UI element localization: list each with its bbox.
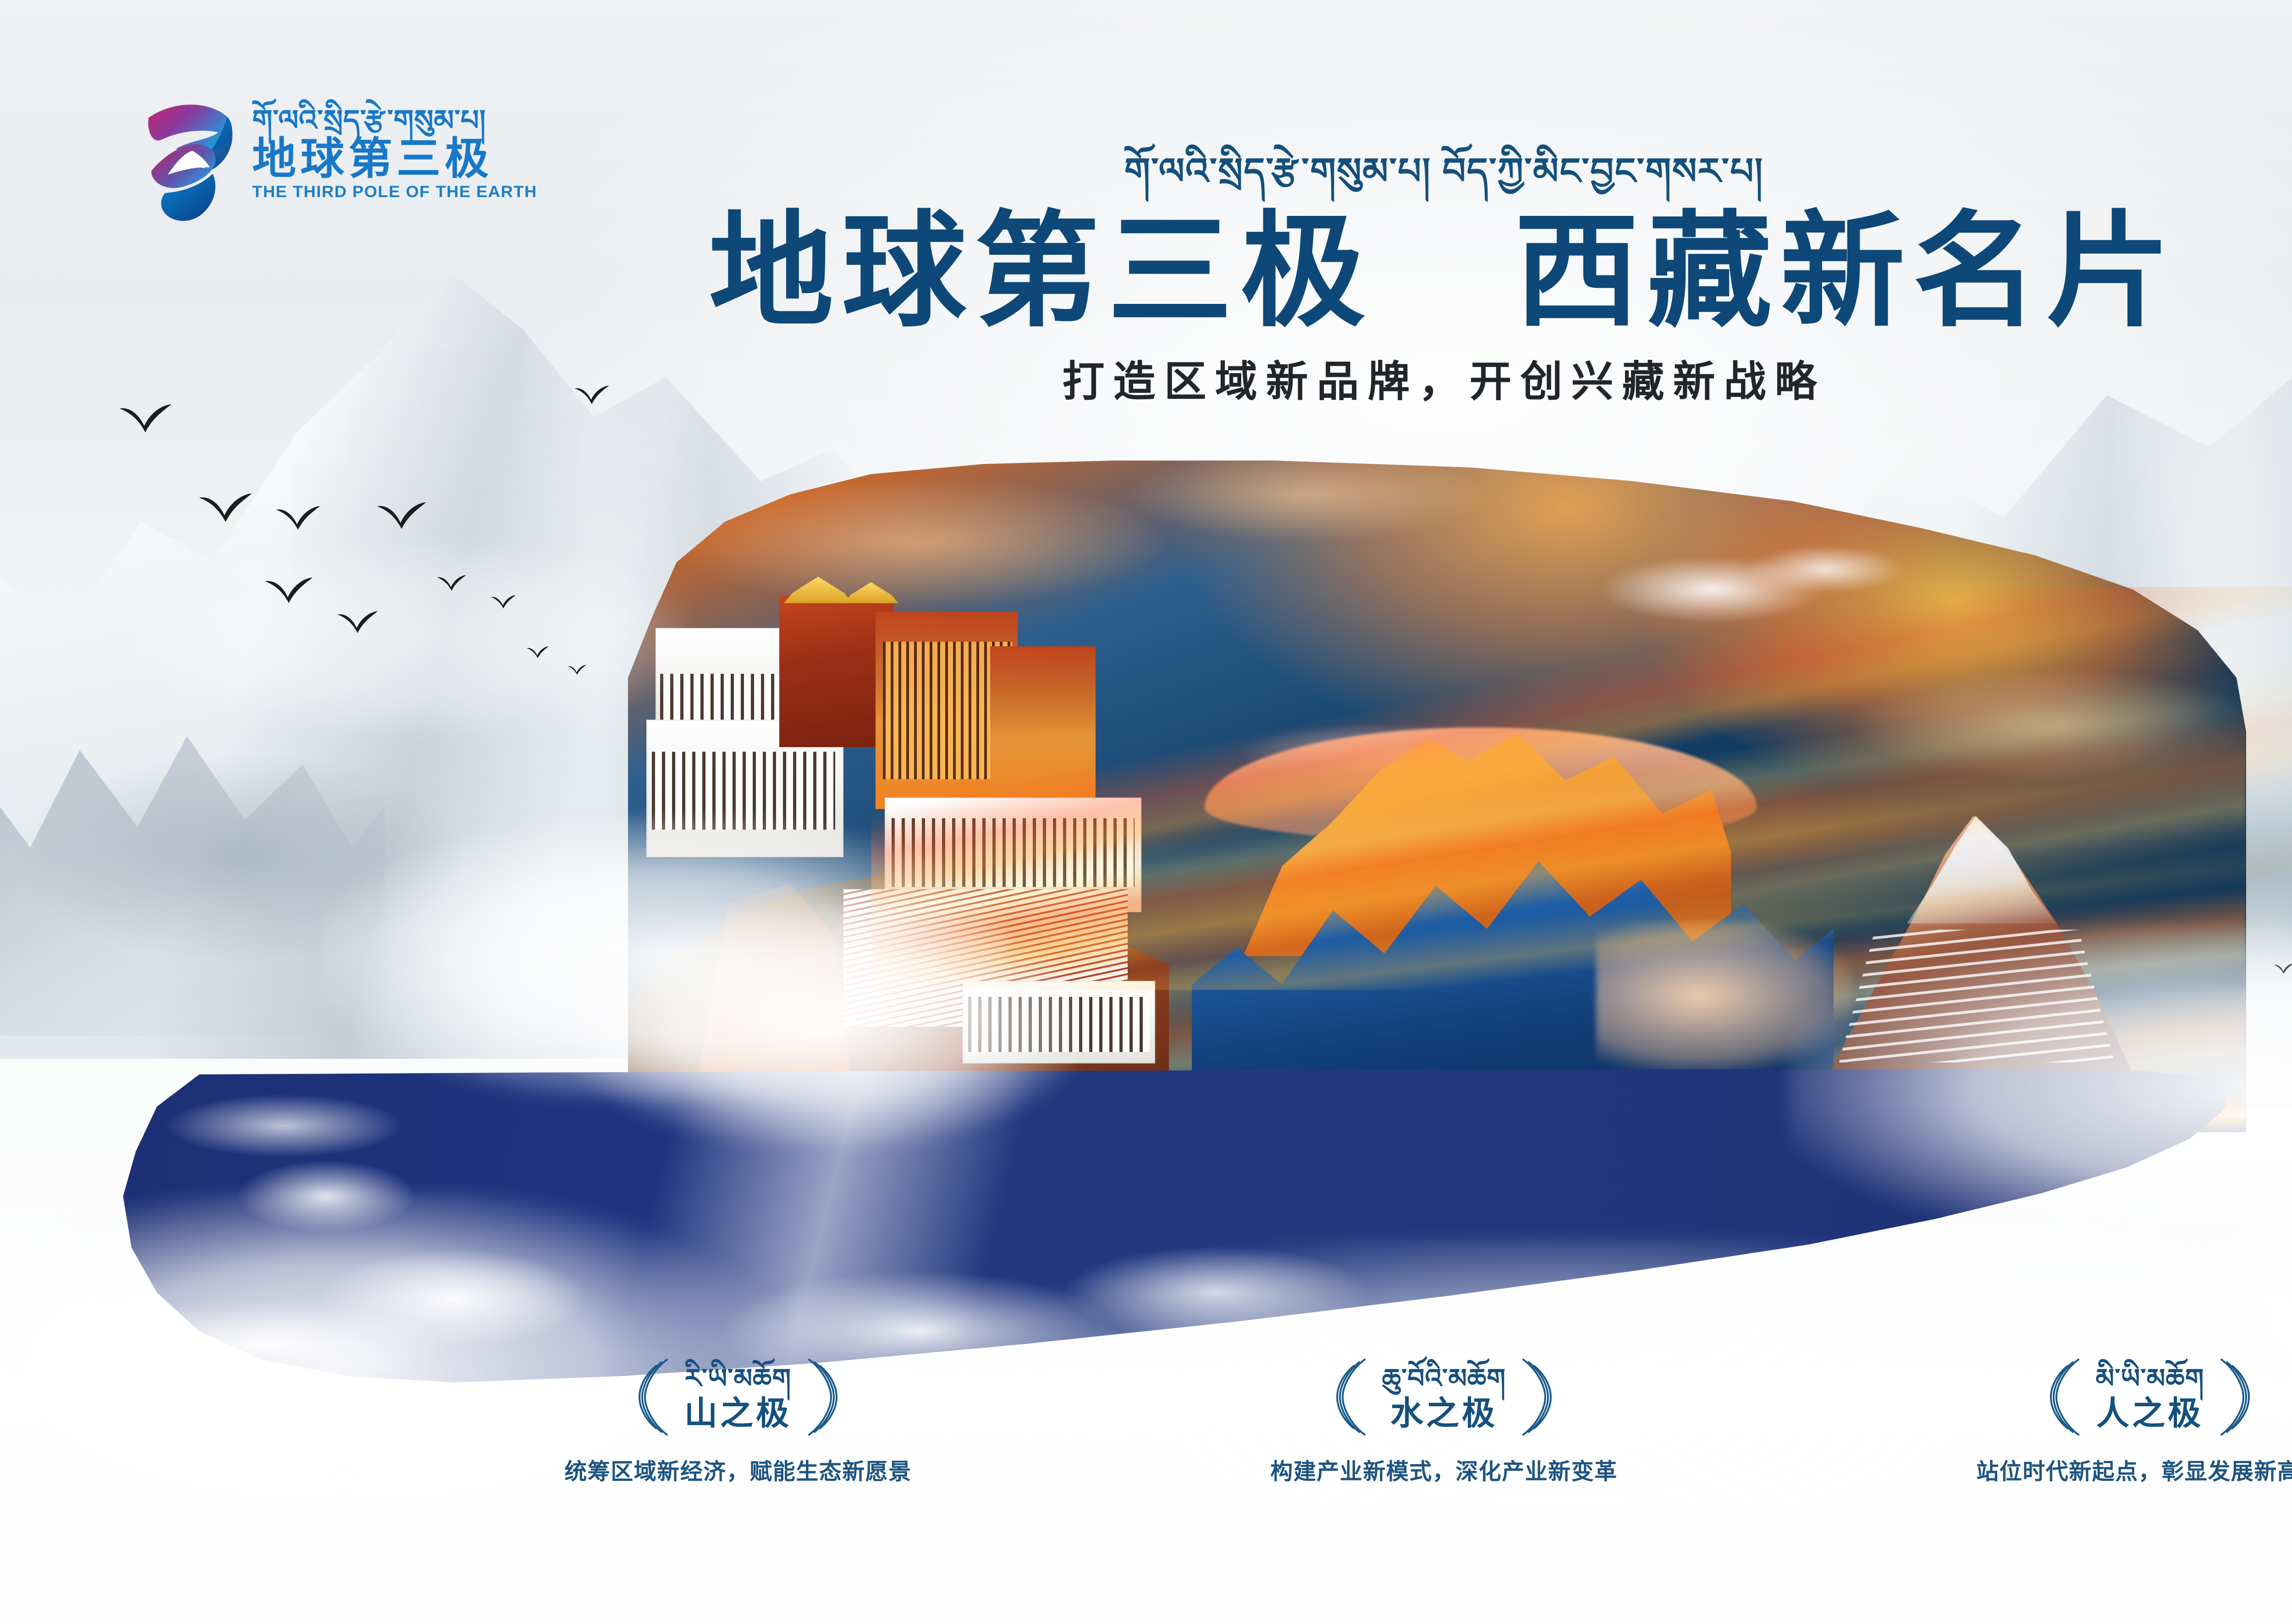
bracket-left-icon bbox=[1334, 1357, 1370, 1440]
bird-icon bbox=[567, 664, 587, 677]
headline-chinese-right: 西藏新名片 bbox=[1515, 202, 2179, 341]
pillar-water-chinese: 水之极 bbox=[1390, 1397, 1498, 1431]
brand-logo-tibetan: གོ་ལའི་སྲིད་རྩེ་གསུམ་པ། bbox=[252, 106, 526, 135]
pillar-water-description: 构建产业新模式，深化产业新变革 bbox=[1270, 1460, 1618, 1485]
bracket-right-icon bbox=[804, 1357, 839, 1440]
bird-icon bbox=[198, 491, 253, 526]
pillar-people-description: 站位时代新起点，彰显发展新高度 bbox=[1976, 1460, 2292, 1485]
kailash-snow-cap bbox=[1883, 816, 2085, 924]
headline-chinese-left: 地球第三极 bbox=[709, 202, 1373, 341]
palace-gold-roof-a bbox=[784, 577, 853, 603]
bracket-right-icon bbox=[2216, 1357, 2252, 1440]
headline-tibetan: གོ་ལའི་སྲིད་རྩེ་གསུམ་པ། བོད་ཀྱི་མིང་བྱང་… bbox=[1124, 151, 1764, 192]
headline-subtitle: 打造区域新品牌，开创兴藏新战略 bbox=[1062, 359, 1825, 405]
bird-icon bbox=[118, 402, 172, 436]
pillars-row: རི་ཡི་མཆོག 山之极 统筹区域新经济，赋能生态新愿景 bbox=[0, 1357, 2292, 1568]
potala-palace-photo bbox=[628, 568, 1169, 1132]
pillar-people[interactable]: མི་ཡི་མཆོག 人之极 站位时代新起点，彰显发展新高度 bbox=[1898, 1357, 2292, 1485]
bracket-left-icon bbox=[637, 1357, 672, 1440]
pillar-mountain-chinese: 山之极 bbox=[684, 1397, 792, 1431]
poster-canvas: གོ་ལའི་སྲིད་རྩེ་གསུམ་པ། 地球第三极 THE THIRD … bbox=[0, 0, 2292, 1624]
bracket-right-icon bbox=[1518, 1357, 1554, 1440]
pillar-mountain[interactable]: རི་ཡི་མཆོག 山之极 统筹区域新经济，赋能生态新愿景 bbox=[486, 1357, 990, 1485]
bird-icon bbox=[264, 576, 314, 607]
palace-lower-village-windows bbox=[968, 997, 1150, 1052]
pillar-mountain-description: 统筹区域新经济，赋能生态新愿景 bbox=[564, 1460, 912, 1485]
snow-peak-photo bbox=[1192, 692, 1834, 1132]
bird-icon bbox=[490, 594, 516, 611]
bird-icon bbox=[2274, 963, 2292, 975]
bird-icon bbox=[275, 504, 321, 534]
pillar-water[interactable]: ཆུ་བོའི་མཆོག 水之极 构建产业新模式，深化产业新变革 bbox=[1192, 1357, 1696, 1485]
pillar-people-chinese: 人之极 bbox=[2096, 1397, 2204, 1431]
bird-icon bbox=[336, 610, 379, 636]
page-title: 地球第三极 西藏新名片 bbox=[709, 208, 2179, 335]
palace-window-rows-right bbox=[892, 818, 1135, 887]
ink-wash-left bbox=[18, 697, 568, 1018]
pillar-mountain-heading: རི་ཡི་མཆོག 山之极 bbox=[637, 1357, 839, 1440]
pillar-mountain-tibetan: རི་ཡི་མཆོག bbox=[685, 1365, 791, 1393]
bird-icon bbox=[526, 645, 549, 660]
snow-mountain-left-rock bbox=[0, 688, 385, 1036]
pillar-people-tibetan: མི་ཡི་མཆོག bbox=[2096, 1365, 2204, 1393]
palace-gold-roof-b bbox=[843, 582, 898, 603]
palace-red-palace-right-glow bbox=[990, 646, 1096, 811]
bracket-left-icon bbox=[2048, 1357, 2084, 1440]
bird-icon bbox=[376, 501, 427, 533]
palace-window-rows-lower-left bbox=[652, 752, 835, 830]
bird-icon bbox=[436, 574, 467, 593]
pillar-water-heading: ཆུ་བོའི་མཆོག 水之极 bbox=[1334, 1357, 1554, 1440]
kailash-strata-bands bbox=[1827, 930, 2127, 1062]
central-photo-montage bbox=[628, 454, 2246, 1132]
headline-block: གོ་ལའི་སྲིད་རྩེ་གསུམ་པ། བོད་ཀྱི་མིང་བྱང་… bbox=[0, 151, 2292, 406]
pillar-people-heading: མི་ཡི་མཆོག 人之极 bbox=[2048, 1357, 2252, 1440]
navy-brush-stroke bbox=[115, 1068, 2232, 1389]
cloud-mist bbox=[138, 541, 688, 733]
pillar-water-tibetan: ཆུ་བོའི་མཆོག bbox=[1382, 1365, 1506, 1393]
